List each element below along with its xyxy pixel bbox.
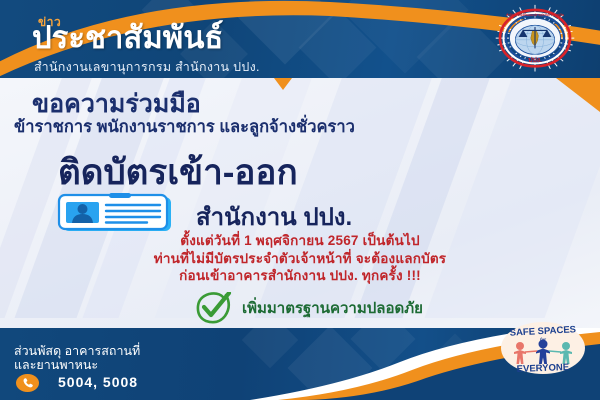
notice-text-block: ตั้งแต่วันที่ 1 พฤศจิกายน 2567 เป็นต้นไป…: [0, 232, 600, 285]
announcement-poster: ข่าว ประชาสัมพันธ์ สำนักงานเลขานุการกรม …: [0, 0, 600, 400]
notice-line-1: ตั้งแต่วันที่ 1 พฤศจิกายน 2567 เป็นต้นไป: [0, 232, 600, 250]
safe-spaces-for-everyone-logo: SAFE SPACES for EVERYONE: [500, 320, 586, 376]
header-band: ข่าว ประชาสัมพันธ์ สำนักงานเลขานุการกรม …: [0, 0, 600, 78]
office-label: สำนักงาน ปปง.: [196, 197, 352, 236]
notice-line-3: ก่อนเข้าอาคารสำนักงาน ปปง. ทุกครั้ง !!!: [0, 267, 600, 285]
phone-numbers: 5004, 5008: [58, 374, 138, 390]
svg-text:EVERYONE: EVERYONE: [517, 362, 570, 375]
amlo-official-emblem: สำนักงานป้องกันและปราบปรามการฟอกเงิน ปปง…: [492, 4, 578, 74]
phone-icon: [16, 374, 39, 392]
green-check-icon: [196, 292, 232, 324]
safety-standard-text: เพิ่มมาตรฐานความปลอดภัย: [242, 296, 423, 320]
department-name-line-2: และยานพาหนะ: [14, 355, 98, 375]
header-subtitle: สำนักงานเลขานุการกรม สำนักงาน ปปง.: [34, 57, 260, 77]
main-headline: ติดบัตรเข้า-ออก: [58, 145, 298, 200]
svg-text:ปปง.: ปปง.: [528, 56, 542, 64]
page-title: ประชาสัมพันธ์: [32, 22, 223, 53]
id-card-icon: [55, 193, 183, 235]
safety-standard-row: เพิ่มมาตรฐานความปลอดภัย: [196, 292, 423, 324]
notice-line-2: ท่านที่ไม่มีบัตรประจำตัวเจ้าหน้าที่ จะต้…: [0, 250, 600, 268]
audience-subheading: ข้าราชการ พนักงานราชการ และลูกจ้างชั่วคร…: [14, 114, 355, 140]
svg-text:สำนักงานป้องกันและปราบปรามการฟ: สำนักงานป้องกันและปราบปรามการฟอกเงิน: [506, 12, 565, 17]
